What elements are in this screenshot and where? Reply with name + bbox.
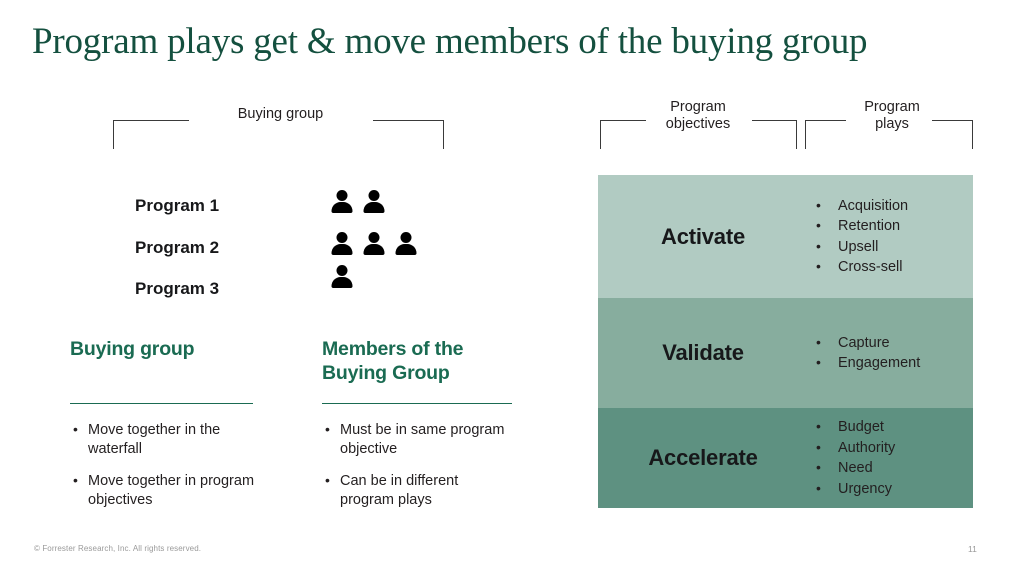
- program-label: Program 3: [135, 274, 219, 304]
- column-heading: Members of the Buying Group: [322, 337, 514, 385]
- bracket-label-buying-group: Buying group: [198, 106, 363, 123]
- stack-row-title: Validate: [598, 340, 808, 366]
- list-item-text: Can be in different program plays: [340, 473, 458, 508]
- list-item: • Retention: [808, 216, 973, 237]
- person-icon: [362, 190, 385, 214]
- bullet-icon: •: [816, 457, 821, 478]
- list-item-text: Move together in program objectives: [88, 473, 254, 508]
- column-bullet-list: • Must be in same program objective • Ca…: [322, 421, 514, 510]
- column-members-of-buying-group: Members of the Buying Group • Must be in…: [322, 337, 514, 523]
- column-heading-line1: Buying group: [70, 338, 194, 360]
- list-item-text: Must be in same program objective: [340, 422, 504, 457]
- list-item: • Acquisition: [808, 196, 973, 217]
- bracket-label-line1: Program: [670, 99, 726, 115]
- bullet-icon: •: [325, 420, 330, 439]
- list-item: • Move together in program objectives: [70, 472, 255, 510]
- list-item: • Must be in same program objective: [322, 421, 514, 459]
- stack-row-accelerate[interactable]: Accelerate • Budget • Authority • Need •…: [598, 408, 973, 508]
- list-item: • Engagement: [808, 353, 973, 374]
- bullet-icon: •: [816, 195, 821, 216]
- bullet-icon: •: [325, 471, 330, 490]
- bullet-icon: •: [73, 471, 78, 490]
- stack-row-activate[interactable]: Activate • Acquisition • Retention • Ups…: [598, 175, 973, 298]
- bracket-arm-right: [932, 120, 973, 149]
- list-item: • Urgency: [808, 479, 973, 500]
- column-bullet-list: • Move together in the waterfall • Move …: [70, 421, 255, 510]
- bullet-icon: •: [816, 215, 821, 236]
- person-icon: [330, 190, 353, 214]
- list-item-text: Retention: [838, 218, 900, 234]
- bullet-icon: •: [816, 437, 821, 458]
- list-item: • Need: [808, 458, 973, 479]
- people-group: [330, 190, 385, 214]
- copyright-notice: © Forrester Research, Inc. All rights re…: [34, 544, 201, 553]
- program-row: Program 2: [135, 233, 435, 263]
- page-title: Program plays get & move members of the …: [32, 20, 1012, 64]
- column-heading-line1: Members of the: [322, 338, 463, 360]
- list-item-text: Acquisition: [838, 198, 908, 214]
- list-item-text: Move together in the waterfall: [88, 422, 220, 457]
- bracket-arm-left: [113, 120, 189, 149]
- bullet-icon: •: [73, 420, 78, 439]
- stack-row-validate[interactable]: Validate • Capture • Engagement: [598, 298, 973, 408]
- list-item-text: Urgency: [838, 481, 892, 497]
- list-item: • Cross-sell: [808, 257, 973, 278]
- bracket-label-line2: plays: [875, 116, 909, 132]
- stack-item-list: • Acquisition • Retention • Upsell • Cro…: [808, 196, 973, 278]
- list-item: • Upsell: [808, 237, 973, 258]
- program-row: Program 1: [135, 191, 435, 221]
- program-row: Program 3: [135, 274, 435, 304]
- list-item-text: Upsell: [838, 239, 878, 255]
- list-item: • Budget: [808, 417, 973, 438]
- person-icon: [394, 232, 417, 256]
- column-divider: [322, 403, 512, 404]
- bullet-icon: •: [816, 478, 821, 499]
- bracket-arm-right: [373, 120, 444, 149]
- program-label: Program 1: [135, 191, 219, 221]
- list-item: • Can be in different program plays: [322, 472, 514, 510]
- program-label: Program 2: [135, 233, 219, 263]
- page-number: 11: [968, 544, 977, 554]
- list-item: • Capture: [808, 333, 973, 354]
- bullet-icon: •: [816, 332, 821, 353]
- list-item-text: Budget: [838, 419, 884, 435]
- people-group: [330, 265, 353, 289]
- bracket-label-line2: objectives: [666, 116, 730, 132]
- people-group: [330, 232, 417, 256]
- bracket-label-line1: Program: [864, 99, 920, 115]
- bracket-label-program-objectives: Program objectives: [648, 99, 748, 133]
- column-heading: Buying group: [70, 337, 255, 361]
- stack-row-title: Activate: [598, 224, 808, 250]
- person-icon: [330, 265, 353, 289]
- stack-item-list: • Capture • Engagement: [808, 333, 973, 374]
- stack-row-title: Accelerate: [598, 445, 808, 471]
- list-item-text: Capture: [838, 335, 890, 351]
- list-item: • Move together in the waterfall: [70, 421, 255, 459]
- slide-canvas: Program plays get & move members of the …: [0, 0, 1024, 576]
- bracket-label-program-plays: Program plays: [843, 99, 941, 133]
- person-icon: [362, 232, 385, 256]
- stack-item-list: • Budget • Authority • Need • Urgency: [808, 417, 973, 499]
- bullet-icon: •: [816, 236, 821, 257]
- bracket-arm-left: [600, 120, 646, 149]
- list-item: • Authority: [808, 438, 973, 459]
- list-item-text: Authority: [838, 440, 895, 456]
- column-heading-line2: Buying Group: [322, 362, 450, 384]
- bracket-arm-right: [752, 120, 797, 149]
- bullet-icon: •: [816, 256, 821, 277]
- program-objective-stack: Activate • Acquisition • Retention • Ups…: [598, 175, 973, 508]
- list-item-text: Cross-sell: [838, 259, 902, 275]
- bracket-arm-left: [805, 120, 846, 149]
- person-icon: [330, 232, 353, 256]
- list-item-text: Engagement: [838, 355, 920, 371]
- bullet-icon: •: [816, 352, 821, 373]
- list-item-text: Need: [838, 460, 873, 476]
- column-divider: [70, 403, 253, 404]
- bullet-icon: •: [816, 416, 821, 437]
- column-buying-group: Buying group • Move together in the wate…: [70, 337, 255, 523]
